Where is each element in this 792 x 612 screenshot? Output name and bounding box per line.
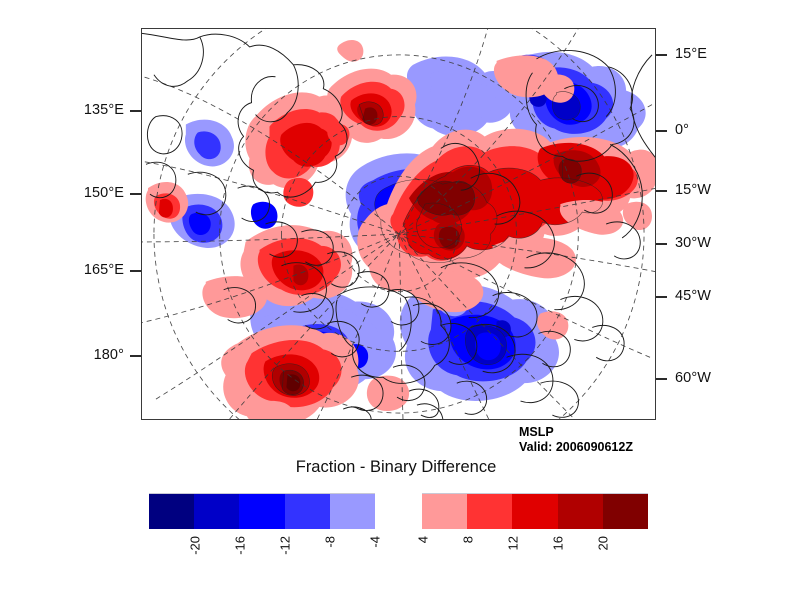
axis-label-left-1: 150°E	[20, 185, 124, 201]
colorbar-tick-neg-2: -12	[278, 536, 293, 555]
colorbar-cell-pos-4[interactable]	[603, 494, 648, 529]
axis-label-left-2: 165°E	[20, 262, 124, 278]
colorbar-cell-pos-3[interactable]	[558, 494, 603, 529]
tick-left-1	[130, 193, 141, 195]
colorbar-tick-pos-2: 12	[506, 536, 521, 550]
axis-label-right-2: 15°W	[675, 182, 711, 198]
chart-title: Fraction - Binary Difference	[0, 458, 792, 477]
tick-right-5	[656, 378, 667, 380]
colorbar-cell-pos-0[interactable]	[422, 494, 467, 529]
tick-right-3	[656, 243, 667, 245]
axis-label-right-1: 0°	[675, 122, 689, 138]
tick-left-3	[130, 355, 141, 357]
axis-label-right-5: 60°W	[675, 370, 711, 386]
colorbar-cell-neg-4[interactable]	[330, 494, 375, 529]
colorbar-cell-neg-1[interactable]	[194, 494, 239, 529]
tick-left-2	[130, 270, 141, 272]
colorbar-cell-neg-3[interactable]	[285, 494, 330, 529]
map-plot-area	[141, 28, 656, 420]
colorbar-tick-neg-4: -4	[368, 536, 383, 548]
colorbar-cell-neg-0[interactable]	[149, 494, 194, 529]
colorbar-tick-neg-1: -16	[233, 536, 248, 555]
axis-label-left-3: 180°	[20, 347, 124, 363]
tick-right-4	[656, 296, 667, 298]
figure-canvas: 135°E 150°E 165°E 180° 15°E 0° 15°W 30°W…	[0, 0, 792, 612]
colorbar-cell-neg-2[interactable]	[239, 494, 284, 529]
colorbar-cell-pos-2[interactable]	[512, 494, 557, 529]
colorbar-tick-pos-1: 8	[461, 536, 476, 543]
colorbar-tick-neg-0: -20	[188, 536, 203, 555]
tick-right-2	[656, 190, 667, 192]
tick-right-0	[656, 54, 667, 56]
field-name-label: MSLP	[519, 425, 633, 440]
colorbar-tick-pos-0: 4	[416, 536, 431, 543]
axis-label-right-0: 15°E	[675, 46, 707, 62]
axis-label-right-4: 45°W	[675, 288, 711, 304]
colorbar-tick-pos-4: 20	[596, 536, 611, 550]
contour-map-svg	[142, 29, 655, 419]
colorbar-tick-pos-3: 16	[551, 536, 566, 550]
colorbar	[149, 493, 648, 528]
colorbar-positive-segments	[422, 493, 648, 529]
tick-right-1	[656, 130, 667, 132]
colorbar-tick-neg-3: -8	[323, 536, 338, 548]
field-metadata: MSLP Valid: 2006090612Z	[519, 425, 633, 455]
tick-left-0	[130, 110, 141, 112]
axis-label-right-3: 30°W	[675, 235, 711, 251]
axis-label-left-0: 135°E	[20, 102, 124, 118]
valid-time-label: Valid: 2006090612Z	[519, 440, 633, 455]
colorbar-negative-segments	[149, 493, 375, 529]
colorbar-cell-pos-1[interactable]	[467, 494, 512, 529]
